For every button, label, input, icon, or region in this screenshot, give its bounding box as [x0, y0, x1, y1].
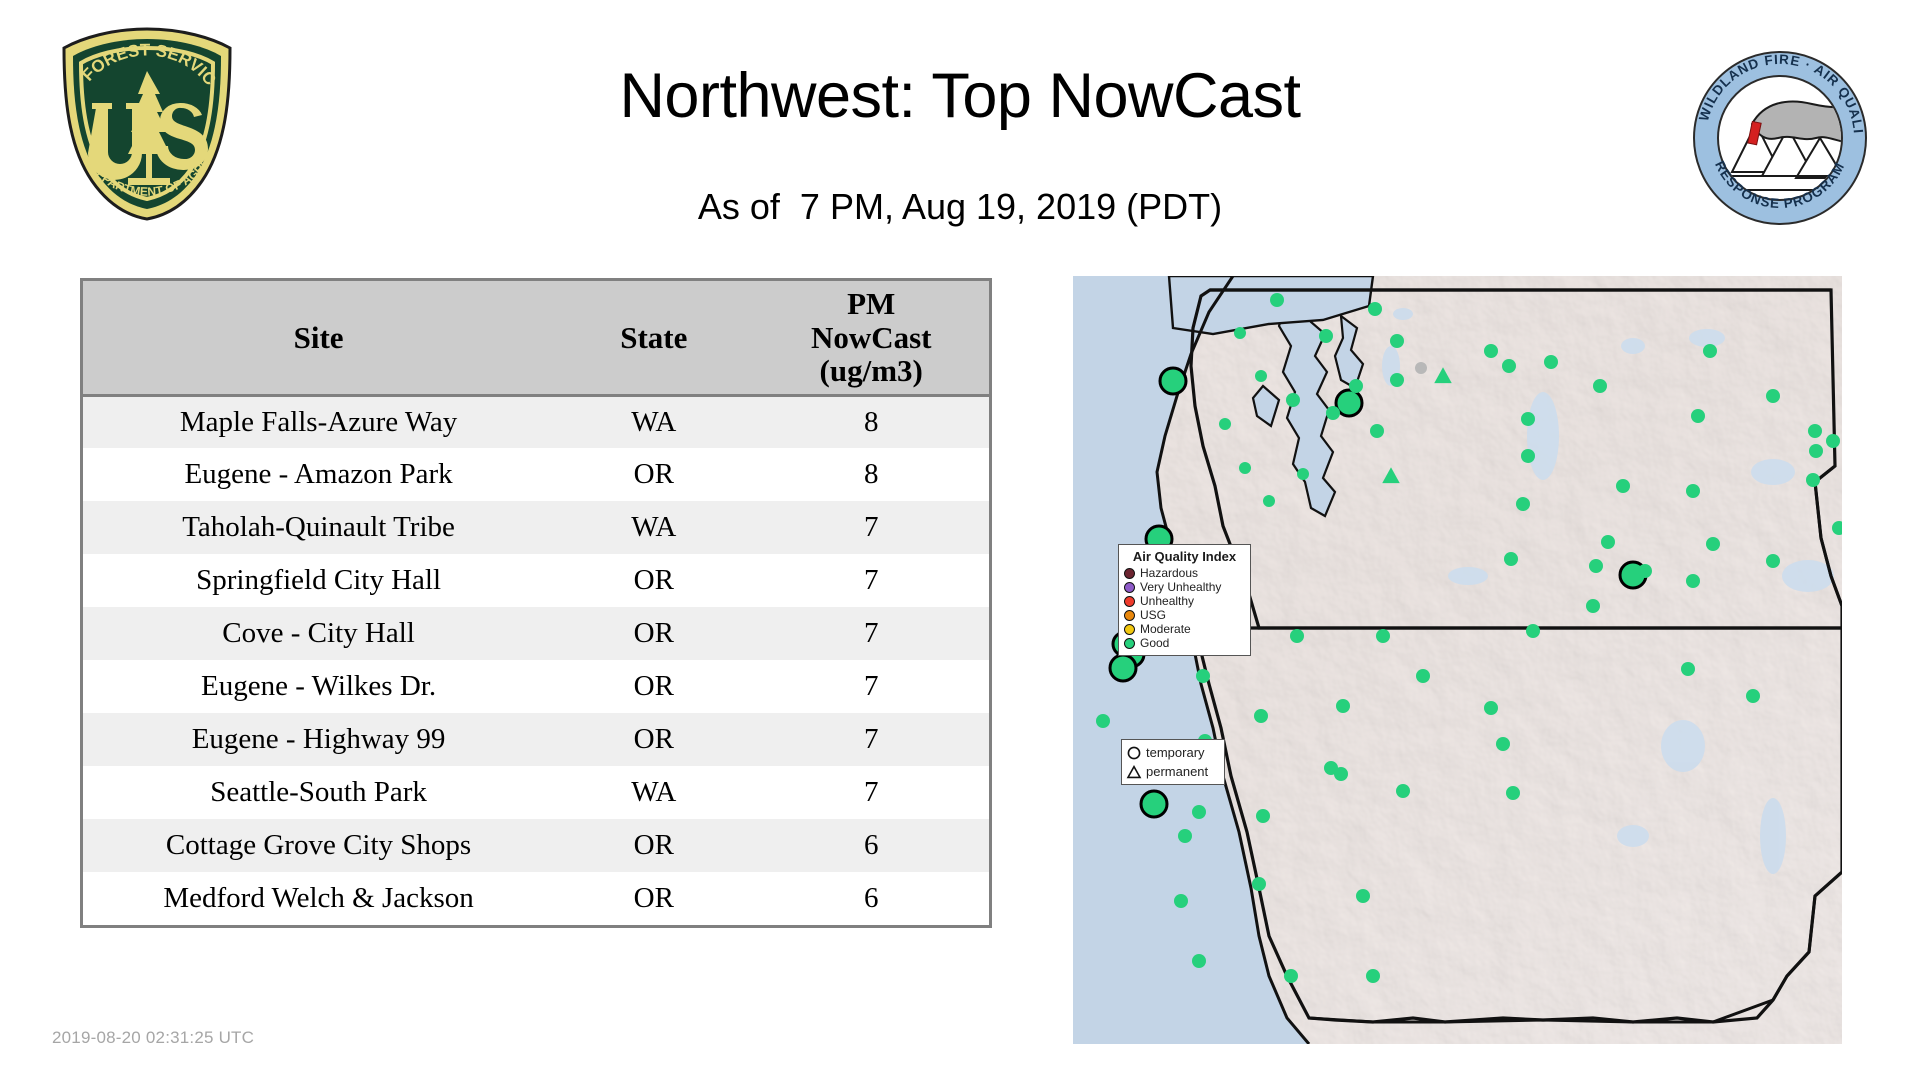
monitor-marker[interactable]: [1390, 334, 1404, 348]
monitor-marker[interactable]: [1826, 434, 1840, 448]
monitor-marker[interactable]: [1252, 877, 1266, 891]
aqi-legend-label: Good: [1140, 637, 1169, 650]
legend-row-permanent: permanent: [1126, 762, 1220, 781]
monitor-marker[interactable]: [1496, 737, 1510, 751]
monitor-marker[interactable]: [1326, 406, 1340, 420]
monitor-type-legend: temporary permanent: [1121, 739, 1225, 785]
cell-pm-nowcast: 8: [753, 395, 989, 448]
monitor-marker[interactable]: [1686, 484, 1700, 498]
aqi-legend-row: Unhealthy: [1124, 594, 1245, 608]
aqi-color-swatch-very-unhealthy: [1124, 582, 1135, 593]
cell-pm-nowcast: 7: [753, 766, 989, 819]
monitor-marker[interactable]: [1396, 784, 1410, 798]
cell-state: OR: [554, 819, 753, 872]
monitor-marker[interactable]: [1174, 894, 1188, 908]
monitor-marker[interactable]: [1691, 409, 1705, 423]
monitor-marker[interactable]: [1192, 805, 1206, 819]
aqi-legend-label: Very Unhealthy: [1140, 581, 1221, 594]
cell-site: Eugene - Highway 99: [83, 713, 554, 766]
aqi-legend-label: USG: [1140, 609, 1166, 622]
cell-state: OR: [554, 607, 753, 660]
cell-state: WA: [554, 501, 753, 554]
monitor-marker[interactable]: [1806, 473, 1820, 487]
monitor-marker[interactable]: [1502, 359, 1516, 373]
cell-site: Seattle-South Park: [83, 766, 554, 819]
cell-pm-nowcast: 6: [753, 872, 989, 925]
monitor-marker[interactable]: [1178, 829, 1192, 843]
monitor-marker[interactable]: [1356, 889, 1370, 903]
monitor-marker[interactable]: [1297, 468, 1309, 480]
monitor-marker[interactable]: [1263, 495, 1275, 507]
monitor-marker[interactable]: [1368, 302, 1382, 316]
cell-state: OR: [554, 660, 753, 713]
monitor-marker[interactable]: [1484, 701, 1498, 715]
monitor-marker[interactable]: [1096, 714, 1110, 728]
monitor-marker[interactable]: [1239, 462, 1251, 474]
monitor-marker[interactable]: [1506, 786, 1520, 800]
aqi-color-swatch-unhealthy: [1124, 596, 1135, 607]
table-row: Eugene - Amazon ParkOR8: [83, 448, 989, 501]
monitor-marker[interactable]: [1415, 362, 1427, 374]
aqi-color-swatch-moderate: [1124, 624, 1135, 635]
monitor-marker[interactable]: [1521, 412, 1535, 426]
monitor-marker[interactable]: [1681, 662, 1695, 676]
aqi-legend-row: USG: [1124, 608, 1245, 622]
monitor-marker[interactable]: [1544, 355, 1558, 369]
monitor-marker[interactable]: [1593, 379, 1607, 393]
aqi-color-swatch-good: [1124, 638, 1135, 649]
cell-pm-nowcast: 7: [753, 713, 989, 766]
aqi-legend-label: Unhealthy: [1140, 595, 1194, 608]
monitor-marker[interactable]: [1586, 599, 1600, 613]
cell-site: Eugene - Wilkes Dr.: [83, 660, 554, 713]
table-row: Cottage Grove City ShopsOR6: [83, 819, 989, 872]
table-row: Cove - City HallOR7: [83, 607, 989, 660]
wildland-fire-air-quality-seal-logo: WILDLAND FIRE · AIR QUALITY RESPONSE PRO…: [1692, 50, 1868, 226]
cell-state: OR: [554, 713, 753, 766]
table-row: Eugene - Highway 99OR7: [83, 713, 989, 766]
monitor-marker[interactable]: [1349, 379, 1363, 393]
monitor-marker[interactable]: [1370, 424, 1384, 438]
cell-pm-nowcast: 7: [753, 501, 989, 554]
monitor-marker[interactable]: [1809, 444, 1823, 458]
cell-site: Maple Falls-Azure Way: [83, 395, 554, 448]
monitor-marker[interactable]: [1334, 767, 1348, 781]
monitor-marker[interactable]: [1589, 559, 1603, 573]
aqi-legend-row: Hazardous: [1124, 566, 1245, 580]
monitor-marker[interactable]: [1254, 709, 1268, 723]
triangle-icon: [1126, 764, 1142, 780]
monitor-marker[interactable]: [1686, 574, 1700, 588]
table-header-row: Site State PM NowCast (ug/m3): [83, 281, 989, 395]
cell-state: OR: [554, 448, 753, 501]
cell-pm-nowcast: 7: [753, 660, 989, 713]
monitor-marker[interactable]: [1255, 370, 1267, 382]
monitor-marker[interactable]: [1808, 424, 1822, 438]
monitor-marker[interactable]: [1192, 954, 1206, 968]
aqi-color-swatch-usg: [1124, 610, 1135, 621]
aqi-legend-row: Very Unhealthy: [1124, 580, 1245, 594]
monitor-marker[interactable]: [1219, 418, 1231, 430]
table-row: Springfield City HallOR7: [83, 554, 989, 607]
aqi-legend-label: Moderate: [1140, 623, 1191, 636]
legend-label-temporary: temporary: [1146, 746, 1205, 760]
monitor-marker[interactable]: [1270, 293, 1284, 307]
top-nowcast-table: Site State PM NowCast (ug/m3) Maple Fall…: [80, 278, 992, 928]
monitor-marker[interactable]: [1284, 969, 1298, 983]
monitor-marker[interactable]: [1484, 344, 1498, 358]
us-forest-service-shield-logo: FOREST SERVICE DEPARTMENT OF AGRICULTURE: [52, 26, 242, 222]
monitor-marker[interactable]: [1746, 689, 1760, 703]
cell-site: Cove - City Hall: [83, 607, 554, 660]
air-quality-index-legend: Air Quality Index HazardousVery Unhealth…: [1118, 544, 1251, 656]
cell-site: Cottage Grove City Shops: [83, 819, 554, 872]
column-header-pm-nowcast: PM NowCast (ug/m3): [753, 281, 989, 395]
page-title: Northwest: Top NowCast: [300, 60, 1620, 132]
cell-pm-nowcast: 6: [753, 819, 989, 872]
aqi-legend-title: Air Quality Index: [1124, 549, 1245, 564]
monitor-marker[interactable]: [1234, 327, 1246, 339]
cell-pm-nowcast: 8: [753, 448, 989, 501]
table-row: Eugene - Wilkes Dr.OR7: [83, 660, 989, 713]
table-row: Seattle-South ParkWA7: [83, 766, 989, 819]
monitor-marker[interactable]: [1416, 669, 1430, 683]
monitor-marker-highlighted[interactable]: [1141, 791, 1167, 817]
aqi-color-swatch-hazardous: [1124, 568, 1135, 579]
cell-pm-nowcast: 7: [753, 554, 989, 607]
cell-state: OR: [554, 554, 753, 607]
monitor-marker[interactable]: [1638, 564, 1652, 578]
legend-label-permanent: permanent: [1146, 765, 1208, 779]
monitor-marker[interactable]: [1766, 389, 1780, 403]
cell-site: Eugene - Amazon Park: [83, 448, 554, 501]
monitor-marker[interactable]: [1256, 809, 1270, 823]
cell-state: WA: [554, 766, 753, 819]
table-row: Taholah-Quinault TribeWA7: [83, 501, 989, 554]
aqi-legend-row: Moderate: [1124, 622, 1245, 636]
monitor-marker-highlighted[interactable]: [1110, 655, 1136, 681]
monitor-marker[interactable]: [1521, 449, 1535, 463]
monitor-marker-highlighted[interactable]: [1160, 368, 1186, 394]
cell-pm-nowcast: 7: [753, 607, 989, 660]
monitor-marker[interactable]: [1616, 479, 1630, 493]
monitor-marker[interactable]: [1196, 669, 1210, 683]
cell-site: Medford Welch & Jackson: [83, 872, 554, 925]
monitor-marker[interactable]: [1366, 969, 1380, 983]
circle-icon: [1126, 745, 1142, 761]
monitor-marker[interactable]: [1706, 537, 1720, 551]
column-header-state: State: [554, 281, 753, 395]
cell-site: Taholah-Quinault Tribe: [83, 501, 554, 554]
legend-row-temporary: temporary: [1126, 743, 1220, 762]
monitor-marker[interactable]: [1336, 699, 1350, 713]
cell-state: WA: [554, 395, 753, 448]
air-quality-monitor-map[interactable]: [1073, 276, 1842, 1044]
monitor-marker[interactable]: [1516, 497, 1530, 511]
aqi-legend-row: Good: [1124, 636, 1245, 650]
monitor-marker[interactable]: [1290, 629, 1304, 643]
cell-site: Springfield City Hall: [83, 554, 554, 607]
monitor-marker[interactable]: [1390, 373, 1404, 387]
monitor-marker[interactable]: [1766, 554, 1780, 568]
table-row: Medford Welch & JacksonOR6: [83, 872, 989, 925]
monitor-marker[interactable]: [1319, 329, 1333, 343]
slide-root: FOREST SERVICE DEPARTMENT OF AGRICULTURE: [0, 0, 1920, 1080]
monitor-marker[interactable]: [1703, 344, 1717, 358]
monitor-marker[interactable]: [1504, 552, 1518, 566]
generated-timestamp: 2019-08-20 02:31:25 UTC: [52, 1028, 254, 1048]
monitor-marker[interactable]: [1601, 535, 1615, 549]
monitor-marker[interactable]: [1526, 624, 1540, 638]
aqi-legend-label: Hazardous: [1140, 567, 1198, 580]
cell-state: OR: [554, 872, 753, 925]
column-header-site: Site: [83, 281, 554, 395]
monitor-marker[interactable]: [1286, 393, 1300, 407]
table-row: Maple Falls-Azure WayWA8: [83, 395, 989, 448]
monitor-marker[interactable]: [1376, 629, 1390, 643]
page-subtitle: As of 7 PM, Aug 19, 2019 (PDT): [300, 186, 1620, 228]
